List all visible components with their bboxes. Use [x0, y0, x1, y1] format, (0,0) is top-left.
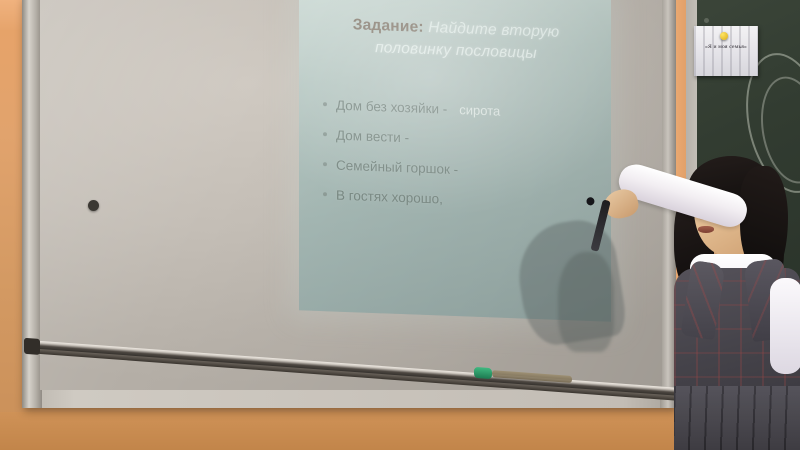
- marker-tip: [586, 196, 596, 206]
- student-girl: [590, 150, 800, 450]
- list-item: Дом вести -: [323, 127, 603, 152]
- chalkboard-screw-top-left: [704, 18, 709, 23]
- tray-end-cap: [24, 338, 40, 355]
- bullet-dot-icon: [323, 193, 327, 197]
- proverb-text: Семейный горшок -: [336, 158, 458, 177]
- proverb-text: В гостях хорошо,: [336, 188, 443, 207]
- bullet-dot-icon: [323, 133, 327, 137]
- mouth: [698, 226, 714, 233]
- sign-title-text: «Я и моя семья»: [694, 44, 758, 50]
- pinafore-pleats: [674, 386, 800, 450]
- classroom-scene: Задание: Найдите вторую половинку послов…: [0, 0, 800, 450]
- whiteboard-magnet: [88, 200, 99, 211]
- bullet-dot-icon: [323, 103, 327, 107]
- list-item: Дом без хозяйки -сирота: [323, 97, 603, 122]
- sleeve-right: [770, 278, 800, 374]
- proverb-answer: сирота: [459, 102, 500, 119]
- slide-title: Задание: Найдите вторую половинку послов…: [317, 13, 595, 67]
- pushpin-icon: [720, 32, 728, 40]
- bullet-dot-icon: [323, 163, 327, 167]
- marker-pointer: [590, 199, 610, 251]
- slide-title-task-label: Задание:: [353, 16, 424, 36]
- green-marker[interactable]: [474, 367, 492, 379]
- proverb-text: Дом вести -: [336, 128, 409, 146]
- list-item: Семейный горшок -: [323, 157, 603, 182]
- proverb-text: Дом без хозяйки -: [336, 98, 447, 117]
- slide-bullet-list: Дом без хозяйки -сирота Дом вести - Семе…: [323, 97, 603, 227]
- list-item: В гостях хорошо,: [323, 187, 603, 212]
